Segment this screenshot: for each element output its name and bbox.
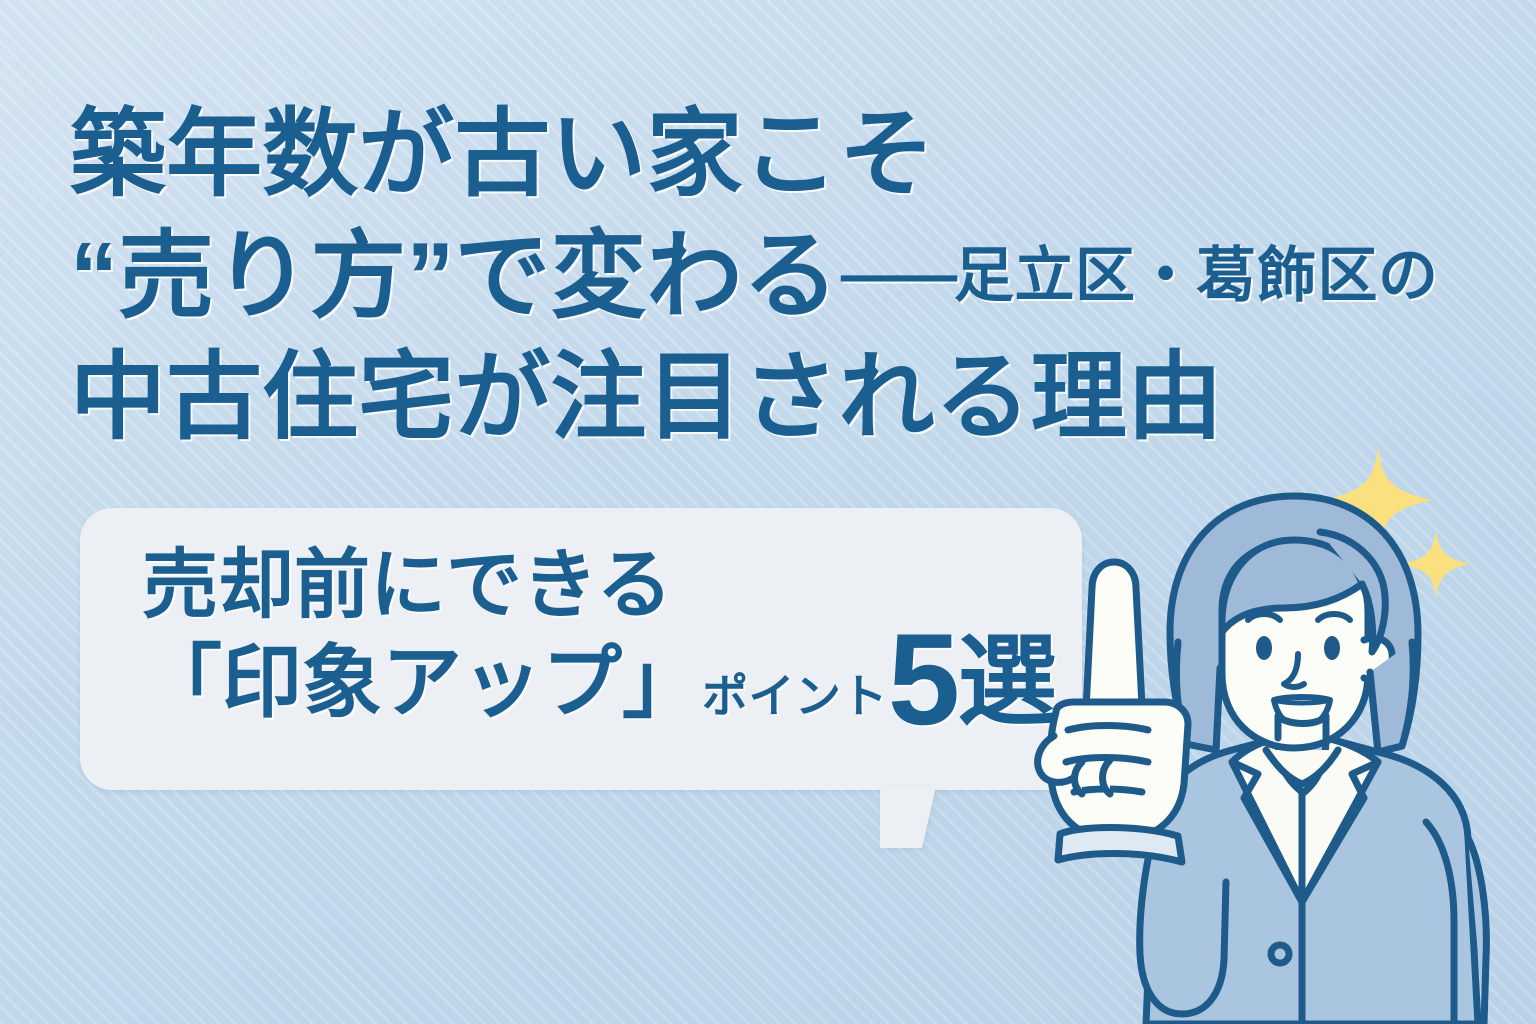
hero-banner: 築年数が古い家こそ “売り方”で変わる——足立区・葛飾区の 中古住宅が注目される… (0, 0, 1536, 1024)
speech-bubble-tail (880, 786, 936, 848)
bubble-line-2: 「印象アップ」ポイント5選 (142, 630, 1072, 758)
bubble-count-number: 5 (888, 606, 958, 752)
bubble-point-label: ポイント (702, 670, 888, 722)
headline-line-2: “売り方”で変わる——足立区・葛飾区の (70, 214, 1490, 338)
headline-em-dash: —— (839, 240, 954, 309)
speech-bubble-content: 売却前にできる 「印象アップ」ポイント5選 (142, 542, 1072, 758)
headline-line-3: 中古住宅が注目される理由 (70, 338, 1490, 458)
speech-bubble: 売却前にできる 「印象アップ」ポイント5選 (80, 508, 1082, 790)
page-title: 築年数が古い家こそ “売り方”で変わる——足立区・葛飾区の 中古住宅が注目される… (70, 96, 1490, 458)
businesswoman-pointing-up-illustration (1026, 462, 1536, 1024)
headline-line-2-subtitle: 足立区・葛飾区の (954, 242, 1439, 309)
headline-line-1: 築年数が古い家こそ (70, 96, 1490, 214)
bubble-quoted-phrase: 「印象アップ」 (142, 638, 702, 727)
headline-line-2-main: “売り方”で変わる (70, 223, 839, 330)
